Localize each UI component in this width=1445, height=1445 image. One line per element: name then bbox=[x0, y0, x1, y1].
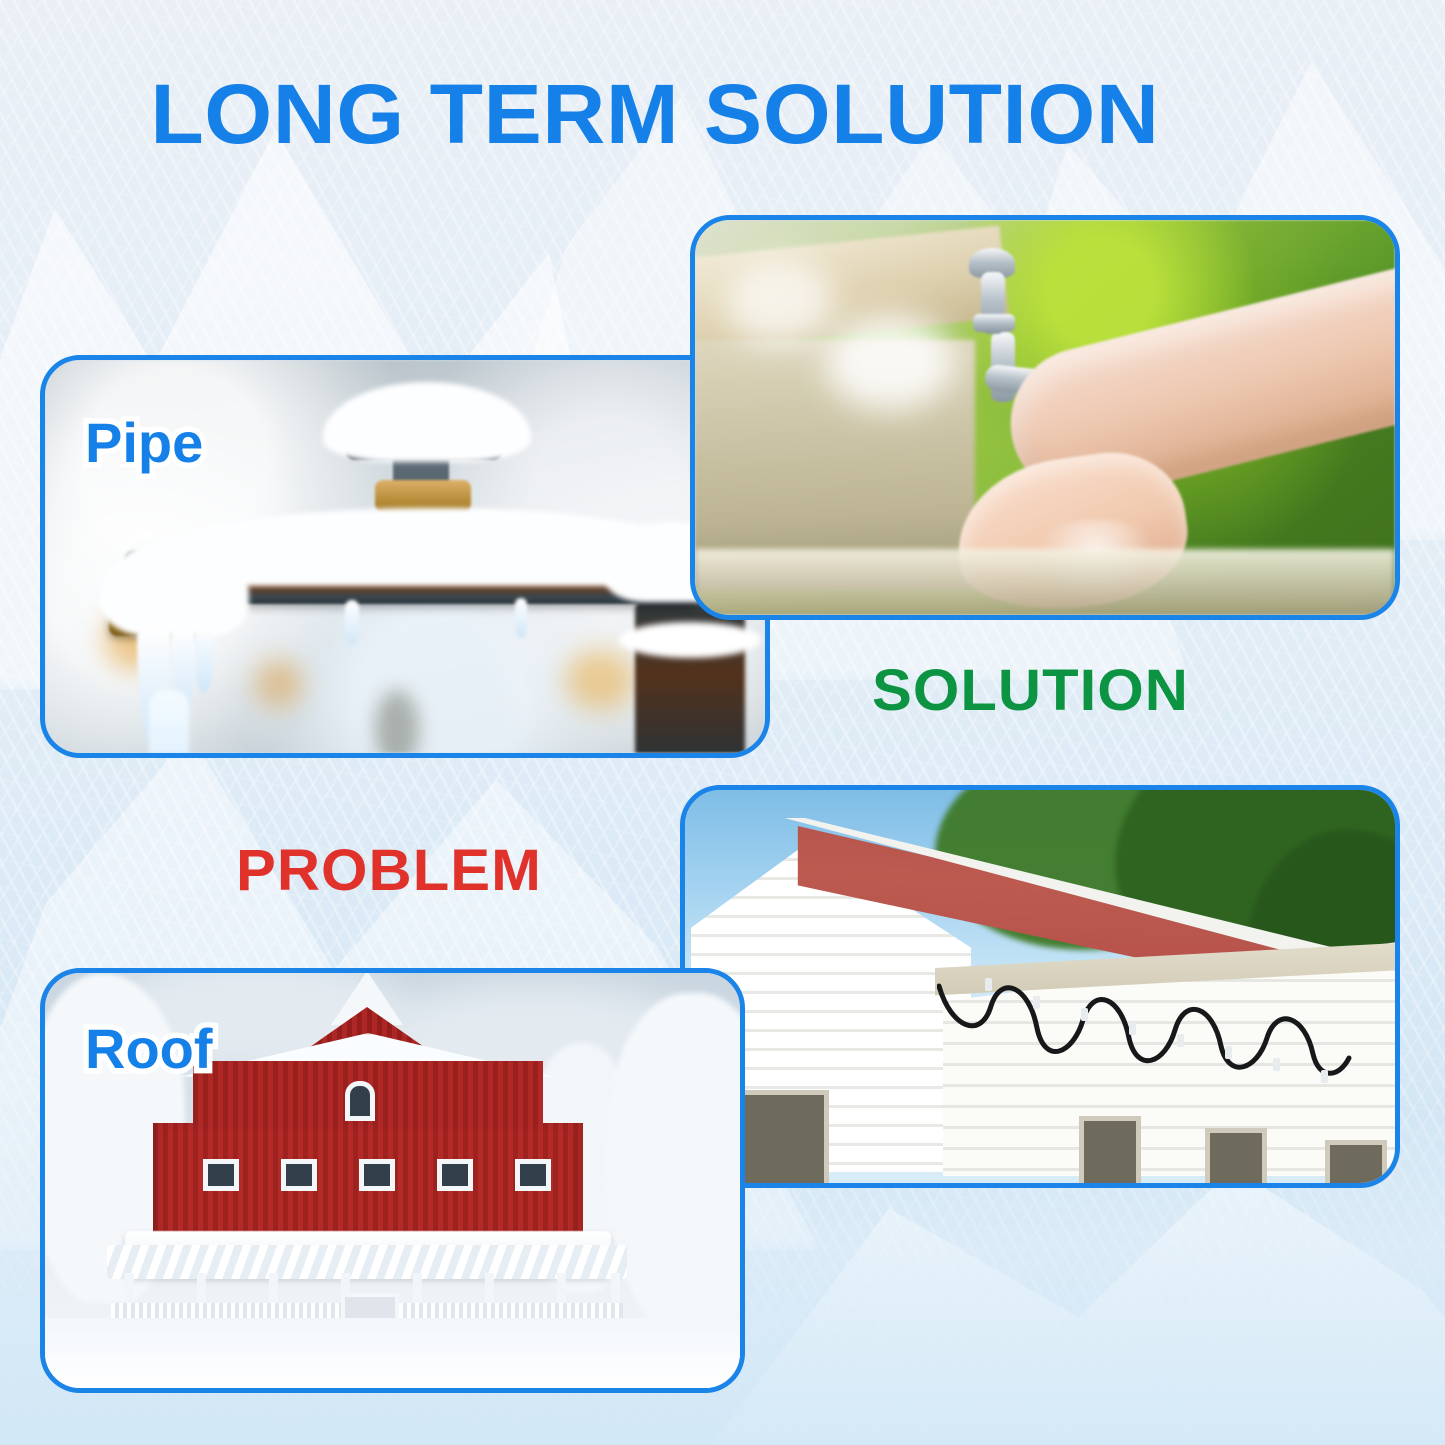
hand-washing-photo bbox=[695, 220, 1395, 615]
tap-collar bbox=[973, 314, 1015, 332]
bokeh-post bbox=[375, 690, 419, 753]
side-door bbox=[1205, 1128, 1267, 1183]
cable-clip bbox=[1321, 1070, 1328, 1083]
snow-ground bbox=[45, 1318, 740, 1388]
card-label-roof: Roof bbox=[85, 1021, 213, 1077]
stone-ledge bbox=[695, 549, 1395, 615]
label-solution: SOLUTION bbox=[872, 662, 1189, 720]
barn-window bbox=[281, 1159, 317, 1191]
barn-window bbox=[359, 1159, 395, 1191]
barn-window bbox=[203, 1159, 239, 1191]
frozen-water-stream bbox=[149, 690, 189, 753]
icicle-icon bbox=[345, 600, 359, 646]
snow-cap bbox=[619, 622, 761, 658]
roof-cable-photo bbox=[685, 790, 1395, 1183]
page-title: LONG TERM SOLUTION bbox=[0, 72, 1445, 156]
porch-roof bbox=[107, 1245, 627, 1279]
barn-window bbox=[437, 1159, 473, 1191]
cable-clip bbox=[1081, 1008, 1088, 1021]
sun-flare bbox=[825, 314, 955, 410]
cable-clip bbox=[1177, 1034, 1184, 1047]
snow-cap bbox=[323, 382, 531, 462]
barn-arch-window bbox=[345, 1081, 375, 1121]
side-door bbox=[1079, 1116, 1141, 1183]
sun-flare bbox=[725, 260, 835, 346]
infographic-canvas: LONG TERM SOLUTION bbox=[0, 0, 1445, 1445]
card-running-tap[interactable] bbox=[690, 215, 1400, 620]
card-label-pipe: Pipe bbox=[85, 415, 203, 471]
bokeh-spot bbox=[255, 660, 303, 708]
bokeh-spot bbox=[565, 650, 635, 710]
snow-cap bbox=[99, 538, 249, 636]
cable-clip bbox=[985, 978, 992, 991]
card-roof[interactable]: Roof bbox=[40, 968, 745, 1393]
cable-clip bbox=[1225, 1046, 1232, 1059]
cable-clip bbox=[1033, 996, 1040, 1009]
card-pipe[interactable]: Pipe bbox=[40, 355, 770, 758]
heating-cable-icon bbox=[937, 962, 1395, 1082]
barn-window bbox=[515, 1159, 551, 1191]
cable-clip bbox=[1273, 1058, 1280, 1071]
icicle-icon bbox=[195, 626, 213, 692]
cable-clip bbox=[1129, 1022, 1136, 1035]
card-heating-cable[interactable] bbox=[680, 785, 1400, 1188]
side-door bbox=[1325, 1140, 1387, 1183]
icicle-icon bbox=[515, 598, 527, 638]
label-problem: PROBLEM bbox=[236, 842, 542, 900]
